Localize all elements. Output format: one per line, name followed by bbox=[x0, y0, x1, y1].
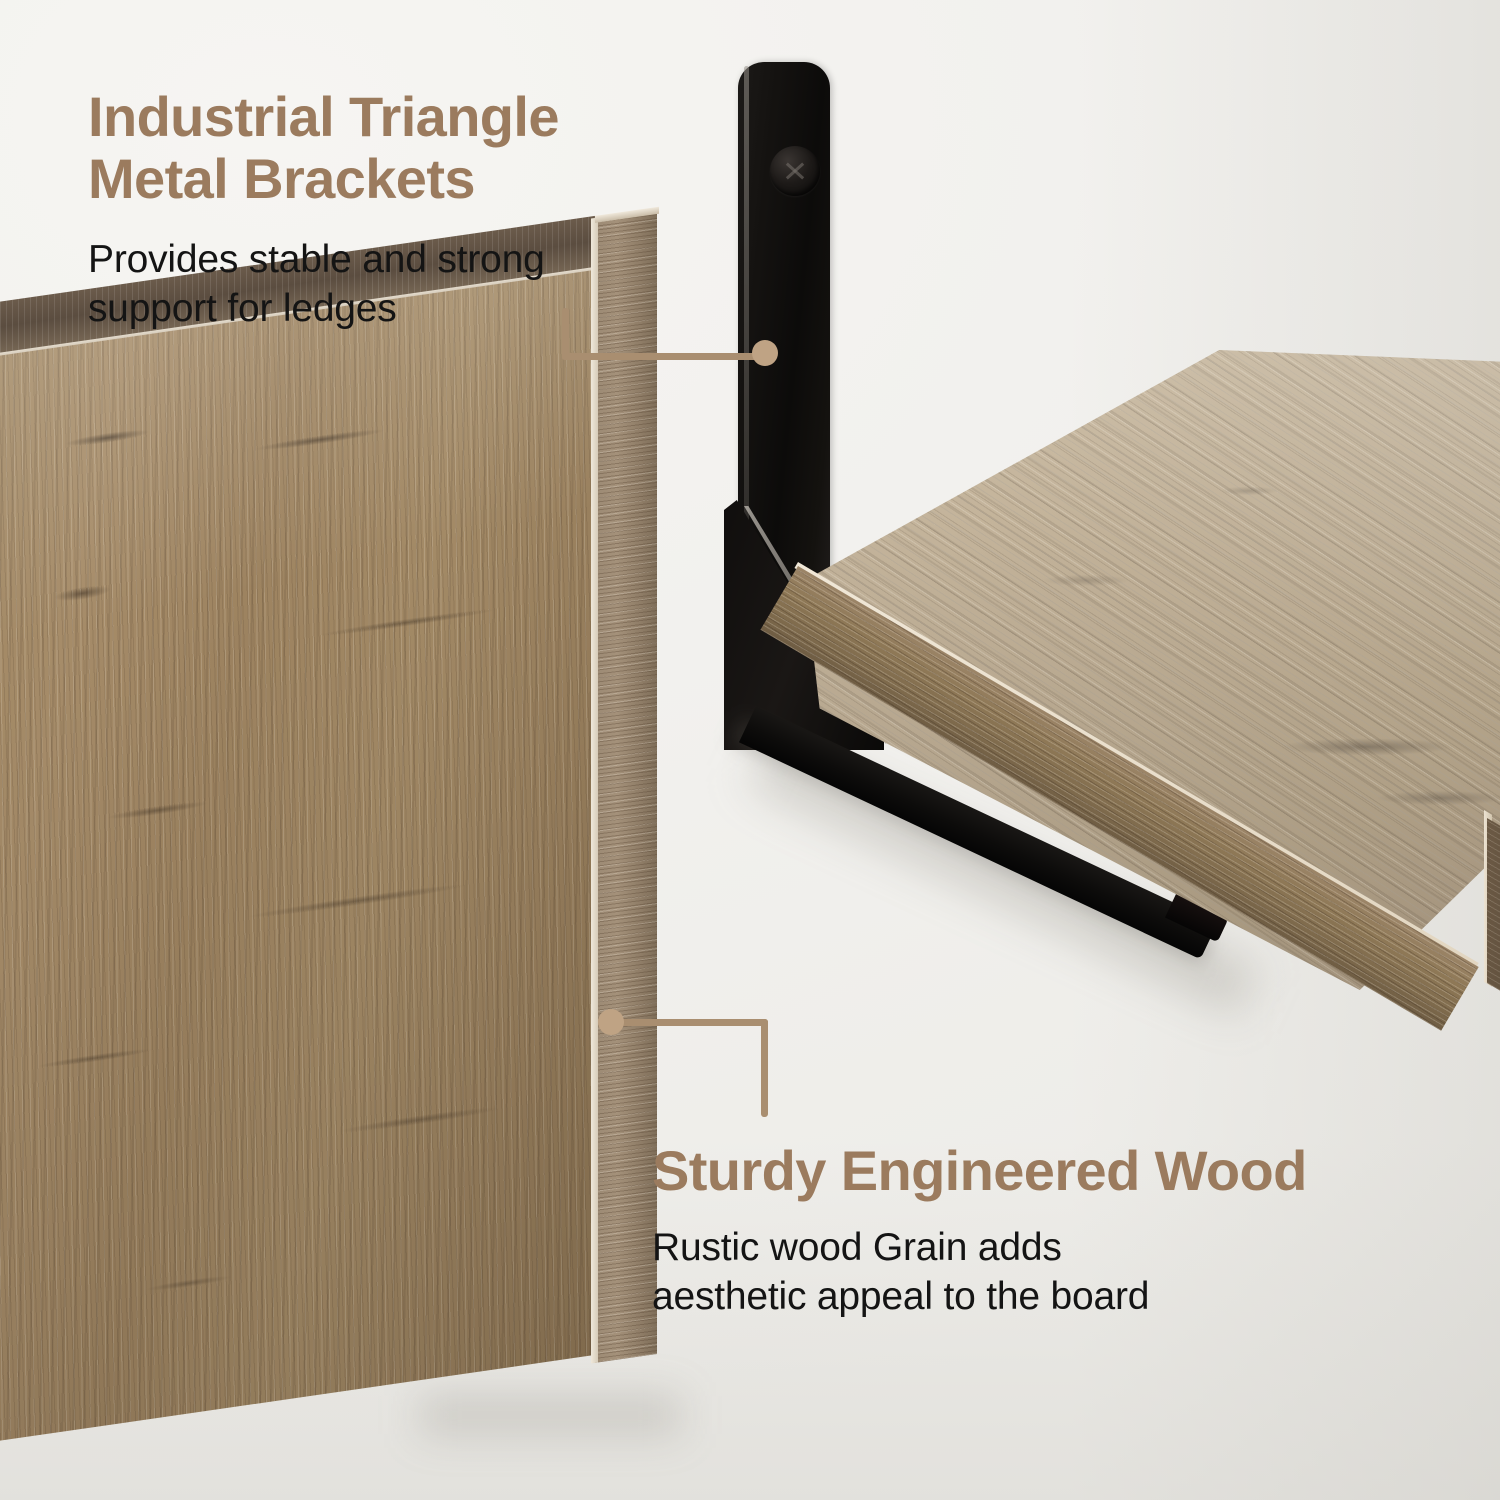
callout-metal-brackets: Industrial Triangle Metal Brackets Provi… bbox=[88, 86, 788, 333]
wood-board-shelf bbox=[790, 350, 1500, 1030]
leader-vertical-segment bbox=[761, 1019, 768, 1117]
callout-subtext: Rustic wood Grain adds aesthetic appeal … bbox=[652, 1224, 1482, 1321]
product-infographic: Industrial Triangle Metal Brackets Provi… bbox=[0, 0, 1500, 1500]
leader-endpoint-dot bbox=[752, 340, 778, 366]
callout-engineered-wood: Sturdy Engineered Wood Rustic wood Grain… bbox=[652, 1140, 1482, 1321]
board-right-edge-highlight bbox=[591, 218, 598, 1364]
callout-headline: Industrial Triangle Metal Brackets bbox=[88, 86, 788, 210]
leader-horizontal-segment bbox=[608, 1019, 768, 1026]
callout-subtext: Provides stable and strong support for l… bbox=[88, 236, 788, 333]
callout-headline: Sturdy Engineered Wood bbox=[652, 1140, 1482, 1202]
board-face-shading bbox=[0, 270, 595, 1445]
leader-endpoint-dot bbox=[598, 1009, 624, 1035]
wood-board-vertical bbox=[0, 259, 670, 1500]
board-right-edge bbox=[595, 209, 657, 1363]
shelf-end-face bbox=[1487, 818, 1500, 1020]
leader-horizontal-segment bbox=[562, 353, 774, 360]
